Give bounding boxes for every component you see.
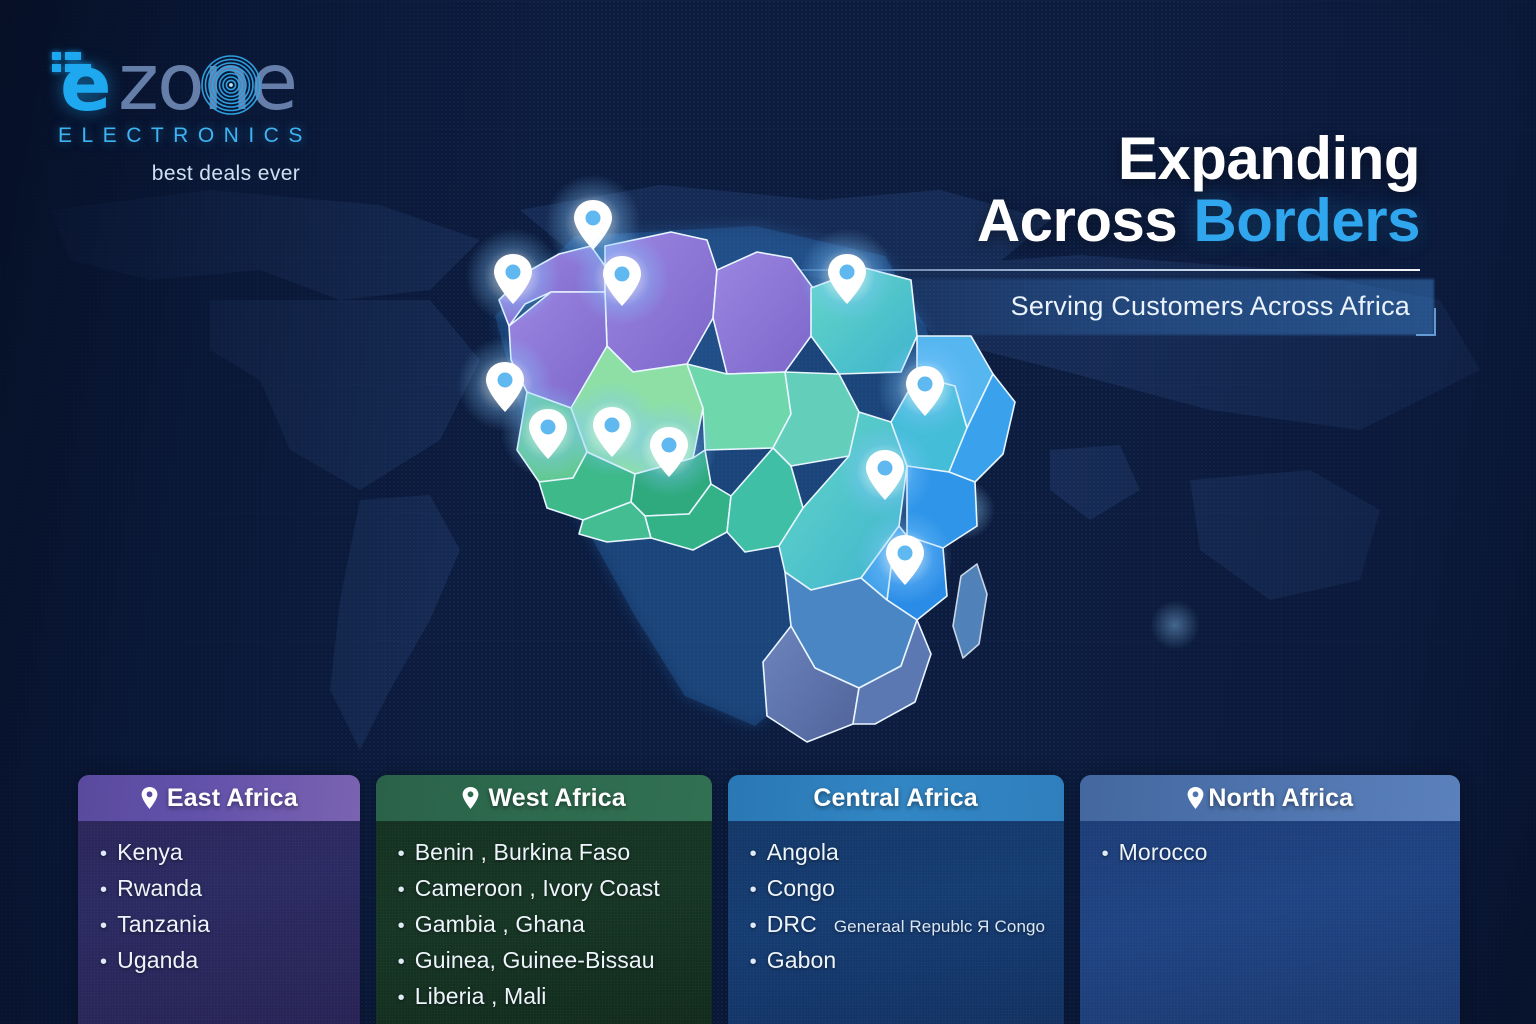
country-label-expansion: Generaal Republc R Congo — [834, 917, 1045, 937]
expansion-text-after: Congo — [990, 917, 1045, 936]
country-label: Angola — [767, 839, 839, 866]
region-card-body: •Angola •Congo • DRC Generaal Republc R … — [728, 821, 1064, 974]
region-card-title: North Africa — [1208, 784, 1353, 813]
expansion-mirrored-letter: R — [977, 917, 989, 937]
country-label: Liberia , Mali — [415, 983, 547, 1010]
country-list-item: •Benin , Burkina Faso — [398, 839, 712, 866]
expansion-text-before: Generaal Republc — [834, 917, 977, 936]
region-card-header: Central Africa — [728, 775, 1064, 821]
bullet-dot: • — [398, 916, 405, 936]
country-label: Gabon — [767, 947, 837, 974]
region-card-central-africa[interactable]: Central Africa •Angola •Congo • DRC Gene… — [728, 775, 1064, 1024]
bullet-dot: • — [750, 916, 757, 936]
country-list-item: •Kenya — [100, 839, 360, 866]
map-pin-kenya[interactable] — [864, 448, 906, 502]
logo-letter-e: e — [60, 46, 109, 122]
country-label: Congo — [767, 875, 835, 902]
region-card-body: •Kenya •Rwanda •Tanzania •Uganda — [78, 821, 360, 974]
region-card-title: East Africa — [167, 784, 298, 813]
country-label: Gambia , Ghana — [415, 911, 585, 938]
country-list-item: • DRC Generaal Republc R Congo — [750, 911, 1064, 938]
logo-wordmark: e zone — [52, 42, 352, 120]
bullet-dot: • — [1102, 844, 1109, 864]
logo-rings-icon — [200, 54, 262, 116]
country-list-item: •Tanzania — [100, 911, 360, 938]
map-pin-algeria[interactable] — [601, 254, 643, 308]
map-pin-egypt[interactable] — [826, 252, 868, 306]
region-card-row: East Africa •Kenya •Rwanda •Tanzania •Ug… — [78, 775, 1460, 1024]
region-card-header: East Africa — [78, 775, 360, 821]
map-pin-guinea[interactable] — [527, 407, 569, 461]
region-card-title: Central Africa — [813, 784, 977, 813]
country-label: Cameroon , Ivory Coast — [415, 875, 660, 902]
country-list-item: •Cameroon , Ivory Coast — [398, 875, 712, 902]
bullet-dot: • — [398, 988, 405, 1008]
country-list-item: •Angola — [750, 839, 1064, 866]
location-pin-icon — [461, 786, 480, 810]
country-label: Uganda — [117, 947, 198, 974]
location-pin-icon — [140, 786, 159, 810]
country-list-item: •Uganda — [100, 947, 360, 974]
headline-line-2-accent: Borders — [1193, 187, 1420, 254]
corner-bracket-decoration — [1416, 308, 1436, 336]
bullet-dot: • — [100, 880, 107, 900]
country-list-item: •Rwanda — [100, 875, 360, 902]
location-pin-icon — [1186, 786, 1205, 810]
country-label: Guinea, Guinee-Bissau — [415, 947, 655, 974]
bullet-dot: • — [750, 844, 757, 864]
map-pin-western-sahara[interactable] — [492, 252, 534, 306]
region-card-west-africa[interactable]: West Africa •Benin , Burkina Faso •Camer… — [376, 775, 712, 1024]
bullet-dot: • — [398, 880, 405, 900]
region-card-title: West Africa — [488, 784, 625, 813]
africa-map[interactable] — [455, 196, 1015, 756]
headline-line-1: Expanding — [660, 128, 1420, 190]
bullet-dot: • — [100, 916, 107, 936]
region-card-east-africa[interactable]: East Africa •Kenya •Rwanda •Tanzania •Ug… — [78, 775, 360, 1024]
bullet-dot: • — [398, 952, 405, 972]
region-card-header: North Africa — [1080, 775, 1460, 821]
country-label: Rwanda — [117, 875, 202, 902]
country-label: DRC — [767, 911, 817, 938]
country-list-item: •Morocco — [1102, 839, 1460, 866]
country-list-item: •Gabon — [750, 947, 1064, 974]
country-list-item: •Liberia , Mali — [398, 983, 712, 1010]
bullet-dot: • — [100, 844, 107, 864]
country-list-item: •Congo — [750, 875, 1064, 902]
bullet-dot: • — [398, 844, 405, 864]
region-card-header: West Africa — [376, 775, 712, 821]
poster-canvas: e zone ELECTRONICS best deals ever Expan… — [0, 0, 1536, 1024]
country-label: Tanzania — [117, 911, 210, 938]
map-pin-mozambique[interactable] — [884, 533, 926, 587]
region-card-body: •Morocco — [1080, 821, 1460, 866]
bullet-dot: • — [750, 880, 757, 900]
bullet-dot: • — [750, 952, 757, 972]
region-card-body: •Benin , Burkina Faso •Cameroon , Ivory … — [376, 821, 712, 1010]
country-label: Benin , Burkina Faso — [415, 839, 631, 866]
map-pin-benin[interactable] — [648, 425, 690, 479]
map-pin-ethiopia[interactable] — [904, 364, 946, 418]
brand-logo[interactable]: e zone ELECTRONICS best deals ever — [52, 42, 352, 186]
country-label: Kenya — [117, 839, 183, 866]
country-label: Morocco — [1119, 839, 1208, 866]
region-card-north-africa[interactable]: North Africa •Morocco — [1080, 775, 1460, 1024]
bullet-dot: • — [100, 952, 107, 972]
logo-tagline: best deals ever — [52, 162, 352, 186]
country-list-item: •Guinea, Guinee-Bissau — [398, 947, 712, 974]
country-list-item: •Gambia , Ghana — [398, 911, 712, 938]
